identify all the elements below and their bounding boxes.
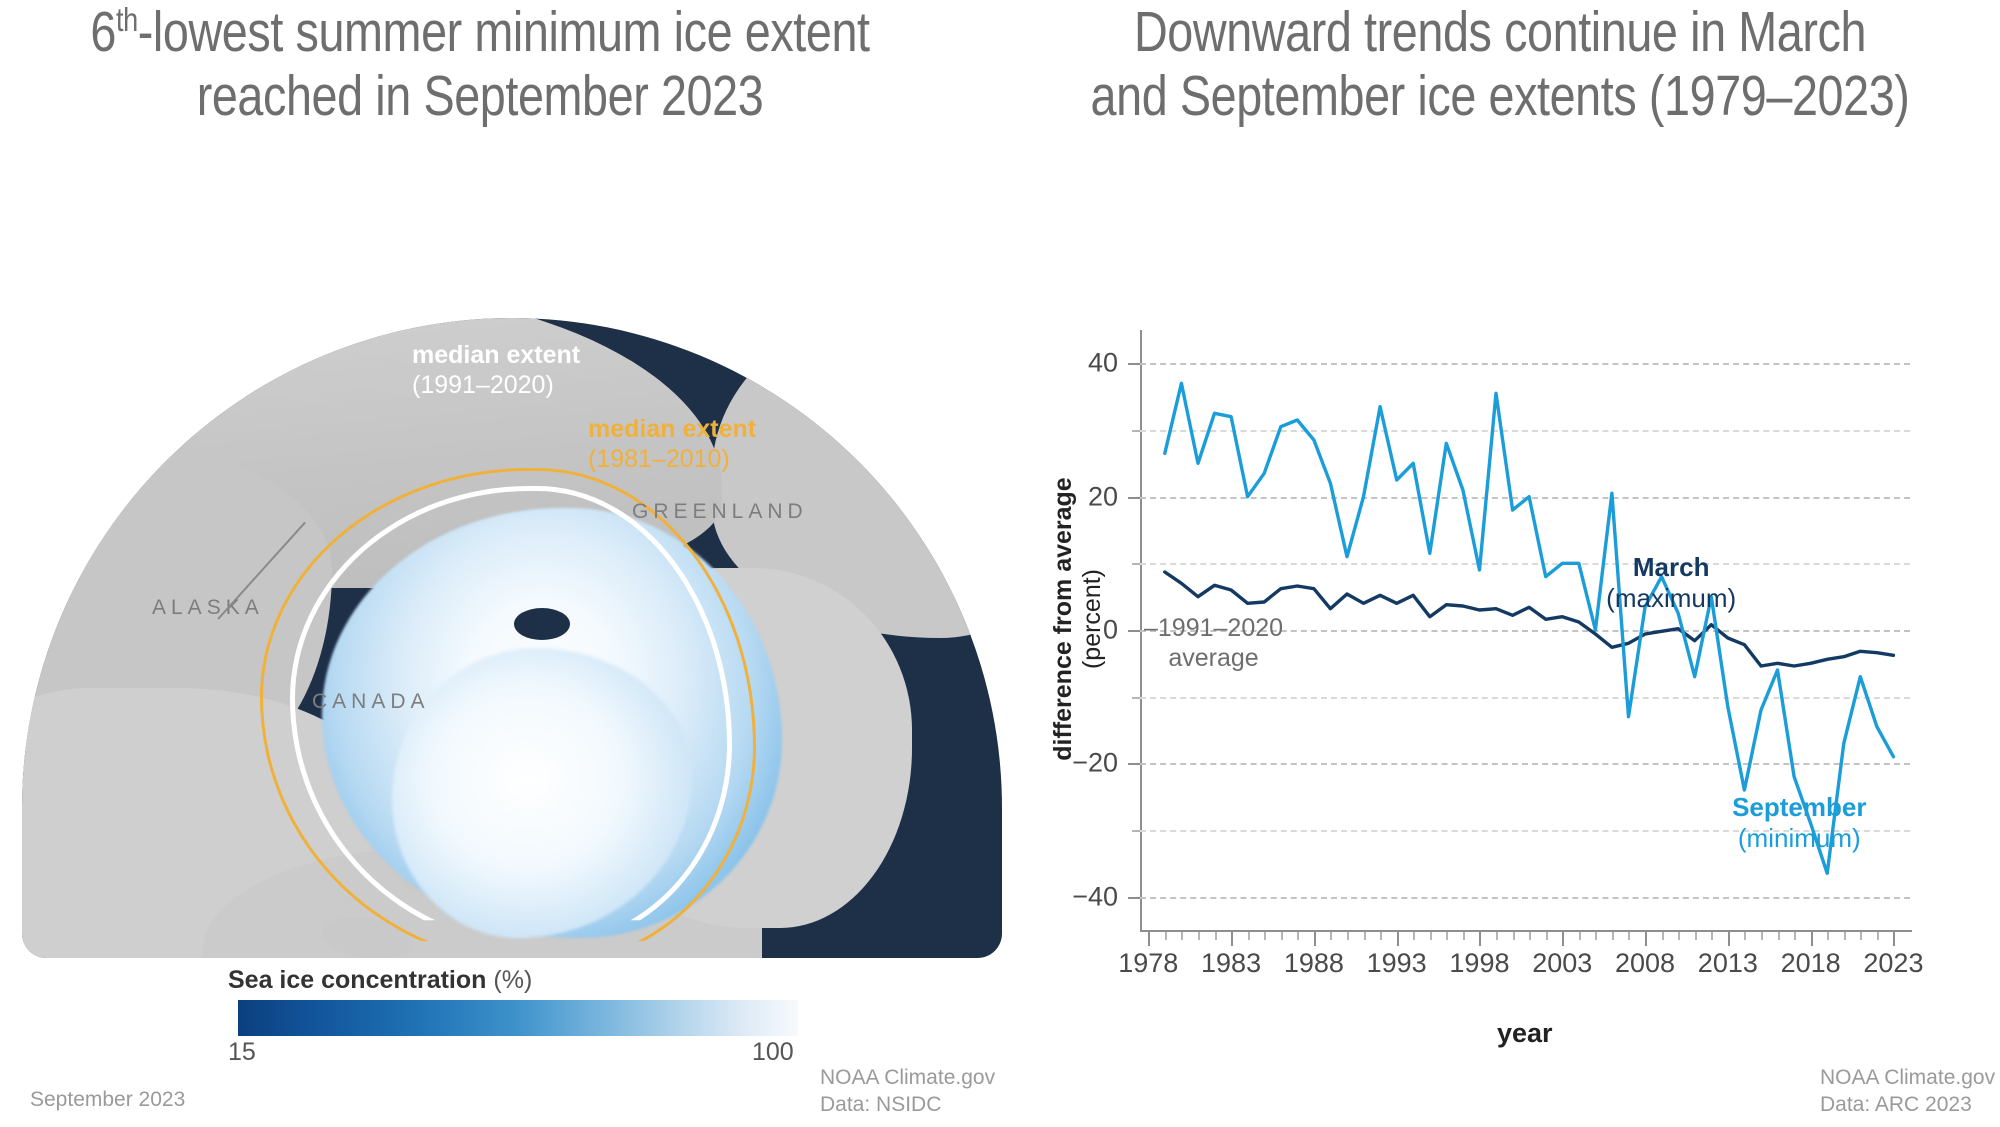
credit-agency: NOAA Climate.gov [1820, 1065, 1995, 1092]
colorbar-min-label: 15 [228, 1038, 256, 1067]
footer-date: September 2023 [30, 1087, 185, 1114]
y-axis-title-text: difference from average [1049, 477, 1077, 760]
globe-projection: RUSSIA ALASKA CANADA GREENLAND median ex… [22, 318, 1002, 958]
title-ordinal-suffix: th [116, 2, 138, 39]
zero-line-annotation: –1991–2020 average [1144, 614, 1283, 673]
footer-credit-left: NOAA Climate.gov Data: NSIDC [820, 1065, 995, 1119]
series-label-september-sub: (minimum) [1732, 823, 1866, 854]
series-label-march: March (maximum) [1606, 552, 1736, 613]
series-label-september: September (minimum) [1732, 792, 1866, 853]
series-label-march-sub: (maximum) [1606, 583, 1736, 614]
y-axis-title: difference from average (percent) [1049, 429, 1107, 809]
colorbar-title: Sea ice concentration (%) [228, 966, 532, 995]
credit-agency: NOAA Climate.gov [820, 1065, 995, 1092]
series-label-september-name: September [1732, 792, 1866, 822]
geo-label-alaska: ALASKA [152, 596, 264, 620]
credit-data-source: Data: NSIDC [820, 1092, 995, 1119]
avg-anno-line2: average [1144, 644, 1283, 674]
geo-label-canada: CANADA [312, 690, 430, 714]
colorbar-max-label: 100 [752, 1038, 794, 1067]
colorbar-title-text: Sea ice concentration [228, 966, 486, 994]
geo-label-greenland: GREENLAND [632, 500, 808, 524]
footer-credit-right: NOAA Climate.gov Data: ARC 2023 [1820, 1065, 1995, 1119]
annotation-median-extent-1981-2010: median extent (1981–2010) [588, 414, 756, 474]
annotation-median-extent-1991-2020: median extent (1991–2020) [412, 340, 580, 400]
annotation-line2: (1981–2010) [588, 444, 756, 474]
infographic-canvas: 6th-lowest summer minimum ice extent rea… [0, 0, 2000, 1127]
y-axis-unit: (percent) [1078, 429, 1107, 809]
title-number: 6 [90, 0, 116, 64]
arctic-sea-ice-map: RUSSIA ALASKA CANADA GREENLAND median ex… [22, 318, 1002, 958]
avg-anno-line1: –1991–2020 [1144, 614, 1283, 642]
right-panel-title: Downward trends continue in March and Se… [1090, 0, 1910, 129]
x-axis-title: year [1497, 1018, 1553, 1049]
sea-ice-extent-trend-chart: 40200−20−40 1978198319881993199820032008… [1020, 300, 1980, 1000]
credit-data-source: Data: ARC 2023 [1820, 1092, 1995, 1119]
series-label-march-name: March [1633, 552, 1710, 582]
title-rest: -lowest summer minimum ice extent reache… [138, 0, 870, 128]
colorbar-gradient [238, 1000, 798, 1036]
annotation-line2: (1991–2020) [412, 370, 580, 400]
left-panel-title: 6th-lowest summer minimum ice extent rea… [86, 0, 873, 129]
annotation-line1: median extent [588, 415, 756, 443]
annotation-line1: median extent [412, 341, 580, 369]
colorbar-unit: (%) [493, 966, 532, 994]
